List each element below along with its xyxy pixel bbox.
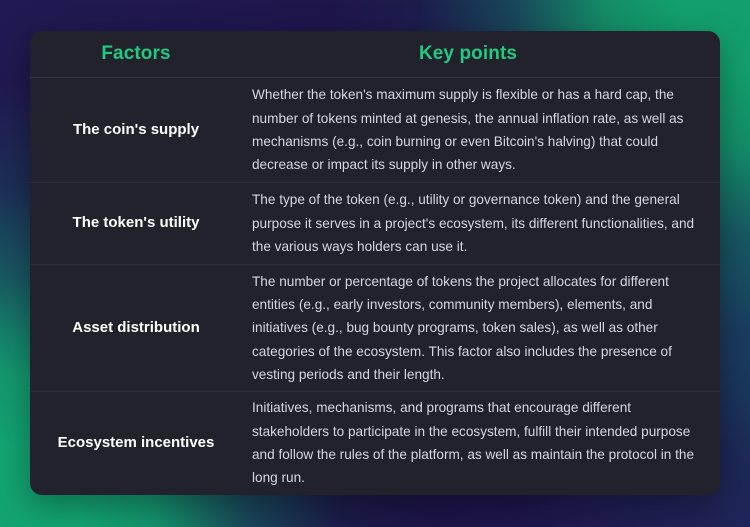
tokenomics-factors-table: Factors Key points The coin's supply Whe…	[30, 31, 720, 495]
table-row: Asset distribution The number or percent…	[30, 265, 720, 392]
key-points-text: The number or percentage of tokens the p…	[242, 270, 720, 387]
factor-label: Asset distribution	[30, 316, 242, 340]
table-row: Ecosystem incentives Initiatives, mechan…	[30, 392, 720, 494]
column-header-factors: Factors	[30, 43, 242, 65]
key-points-text: Whether the token's maximum supply is fl…	[242, 83, 720, 177]
column-header-key-points: Key points	[242, 43, 720, 65]
key-points-text: The type of the token (e.g., utility or …	[242, 188, 720, 258]
table-header-row: Factors Key points	[30, 31, 720, 78]
factor-label: The coin's supply	[30, 118, 242, 142]
key-points-text: Initiatives, mechanisms, and programs th…	[242, 396, 720, 490]
factor-label: Ecosystem incentives	[30, 431, 242, 455]
table-row: The coin's supply Whether the token's ma…	[30, 78, 720, 183]
table-row: The token's utility The type of the toke…	[30, 183, 720, 265]
factor-label: The token's utility	[30, 211, 242, 235]
